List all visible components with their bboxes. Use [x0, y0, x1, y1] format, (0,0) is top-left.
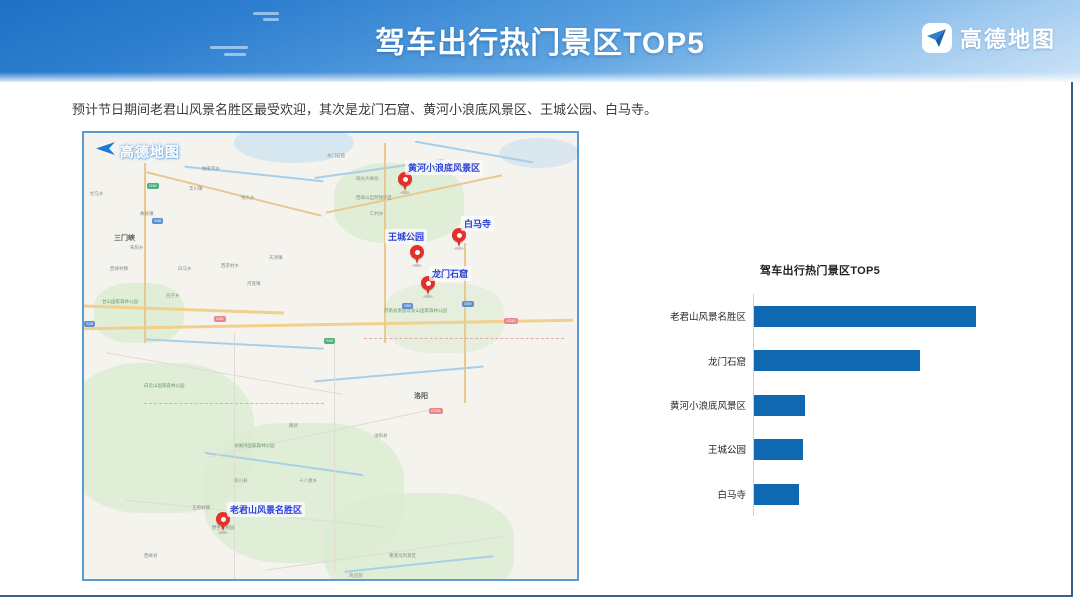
- map-place-label: 甘山国家森林公园: [102, 299, 138, 305]
- brand-name: 高德地图: [960, 22, 1056, 54]
- map-canvas[interactable]: 高德地图 三门峡 洛阳 甘山国家森林公园 西峡山自然保护区 龙门石窟 阳光大峡谷…: [84, 133, 577, 579]
- chart-bar-track: [753, 427, 1020, 471]
- map-highway-badge: G30: [214, 316, 226, 322]
- map-place-label: 龙门石窟: [327, 153, 345, 159]
- map-place-label: 嵩县: [289, 423, 298, 429]
- map-marker-label-wangchenggongyuan[interactable]: 王城公园: [385, 229, 427, 244]
- map-pin-icon: [398, 172, 412, 192]
- summary-text: 预计节日期间老君山风景名胜区最受欢迎，其次是龙门石窟、黄河小浪底风景区、王城公园…: [72, 100, 972, 120]
- map-highway-badge: G36: [147, 183, 159, 189]
- chart-bar-row: 黄河小浪底风景区: [620, 383, 1020, 427]
- map-place-label: 王府村镇: [192, 505, 210, 511]
- map-boundary-line: [364, 338, 564, 339]
- map-road-minor: [334, 343, 335, 573]
- map-marker-label-laojunshan[interactable]: 老君山风景名胜区: [227, 502, 305, 517]
- map-place-label: 洛阳: [414, 391, 428, 401]
- map-highway-badge: G241: [429, 408, 443, 414]
- map-place-label: 重渡沟风景区: [389, 553, 416, 559]
- chart-plot-area: 老君山风景名胜区 龙门石窟 黄河小浪底风景区 王城公园 白马寺: [620, 294, 1020, 516]
- chart-bar-track: [753, 383, 1020, 427]
- map-place-label: 柏家河乡: [202, 166, 220, 172]
- map-highway-badge: S89: [402, 303, 413, 309]
- page-edge-bottom: [0, 595, 1073, 597]
- map-marker-label-baimasi[interactable]: 白马寺: [461, 216, 494, 231]
- chart-category-label: 老君山风景名胜区: [620, 309, 753, 323]
- map-water-area: [499, 138, 579, 168]
- chart-bar-row: 龙门石窟: [620, 338, 1020, 382]
- map-green-area: [94, 283, 184, 343]
- chart-title: 驾车出行热门景区TOP5: [620, 262, 1020, 278]
- chart-bar-track: [753, 338, 1020, 382]
- map-place-label: 白云山国家森林公园: [144, 383, 185, 389]
- map-place-label: 西李村乡: [221, 263, 239, 269]
- map-place-label: 窑头乡: [241, 195, 255, 201]
- map-place-label: 西峡山自然保护区: [356, 195, 392, 201]
- map-highway-badge: S49: [324, 338, 335, 344]
- chart-bar[interactable]: [754, 350, 920, 371]
- map-place-label: 河南省南部双龙山国家森林公园: [384, 308, 447, 314]
- chart-bar-row: 白马寺: [620, 472, 1020, 516]
- amap-arrow-icon: [94, 141, 116, 162]
- chart-category-label: 龙门石窟: [620, 354, 753, 368]
- map-green-area: [384, 283, 504, 353]
- map-place-label: 仁村乡: [370, 211, 384, 217]
- map-place-label: 吕子乡: [166, 293, 180, 299]
- chart-bar-row: 老君山风景名胜区: [620, 294, 1020, 338]
- chart-bar[interactable]: [754, 306, 976, 327]
- map-place-label: 西坡村镇: [110, 266, 128, 272]
- map-place-label: 龙峪湾国家森林公园: [234, 443, 275, 449]
- map-green-area: [324, 493, 514, 581]
- chart-bar[interactable]: [754, 439, 803, 460]
- map-highway-badge: S38: [152, 218, 163, 224]
- map-place-label: 栾川县: [234, 478, 248, 484]
- map-marker-label-huanghexiaolangdi[interactable]: 黄河小浪底风景区: [405, 160, 483, 175]
- map-place-label: 十八盘乡: [299, 478, 317, 484]
- chart-category-label: 白马寺: [620, 487, 753, 501]
- map-place-label: 故县镇: [140, 211, 154, 217]
- map-place-label: 三门峡: [114, 233, 135, 243]
- page-edge-right: [1071, 82, 1073, 595]
- chart-category-label: 王城公园: [620, 442, 753, 456]
- map-road-minor: [234, 333, 235, 581]
- map-place-label: 朱阳乡: [130, 245, 144, 251]
- brand-logo: 高德地图: [922, 22, 1056, 54]
- map-pin-icon: [452, 228, 466, 248]
- map-place-label: 白马乡: [178, 266, 192, 272]
- chart-bar-track: [753, 472, 1020, 516]
- map-place-label: 西峡县: [144, 553, 158, 559]
- map-place-label: 阳光大峡谷: [356, 176, 379, 182]
- map-road: [144, 163, 146, 343]
- chart-category-label: 黄河小浪底风景区: [620, 398, 753, 412]
- chart-bar[interactable]: [754, 395, 805, 416]
- map-place-label: 河底镇: [247, 281, 261, 287]
- page-title: 驾车出行热门景区TOP5: [0, 18, 1080, 62]
- map-boundary-line: [144, 403, 324, 404]
- chart-bar-row: 王城公园: [620, 427, 1020, 471]
- map-place-label: 鸡冠洞: [349, 573, 363, 579]
- map-watermark: 高德地图: [94, 141, 180, 162]
- map-marker-label-longmenshiku[interactable]: 龙门石窟: [429, 266, 471, 281]
- map-pin-icon: [410, 245, 424, 265]
- map-watermark-label: 高德地图: [120, 142, 180, 162]
- amap-plane-logo-icon: [922, 23, 952, 53]
- chart-bar[interactable]: [754, 484, 799, 505]
- map-place-label: 丰川镇: [189, 186, 203, 192]
- top5-bar-chart: 驾车出行热门景区TOP5 老君山风景名胜区 龙门石窟 黄河小浪底风景区 王城公园: [620, 258, 1020, 520]
- map-place-label: 天池镇: [269, 255, 283, 261]
- page-header: 驾车出行热门景区TOP5 高德地图: [0, 0, 1080, 82]
- map-highway-badge: S28: [84, 321, 95, 327]
- map-highway-badge: G310: [504, 318, 518, 324]
- chart-bar-track: [753, 294, 1020, 338]
- map-panel[interactable]: 高德地图 三门峡 洛阳 甘山国家森林公园 西峡山自然保护区 龙门石窟 阳光大峡谷…: [82, 131, 579, 581]
- map-place-label: 汝阳县: [374, 433, 388, 439]
- map-place-label: 杜马乡: [90, 191, 104, 197]
- map-highway-badge: G59: [462, 301, 474, 307]
